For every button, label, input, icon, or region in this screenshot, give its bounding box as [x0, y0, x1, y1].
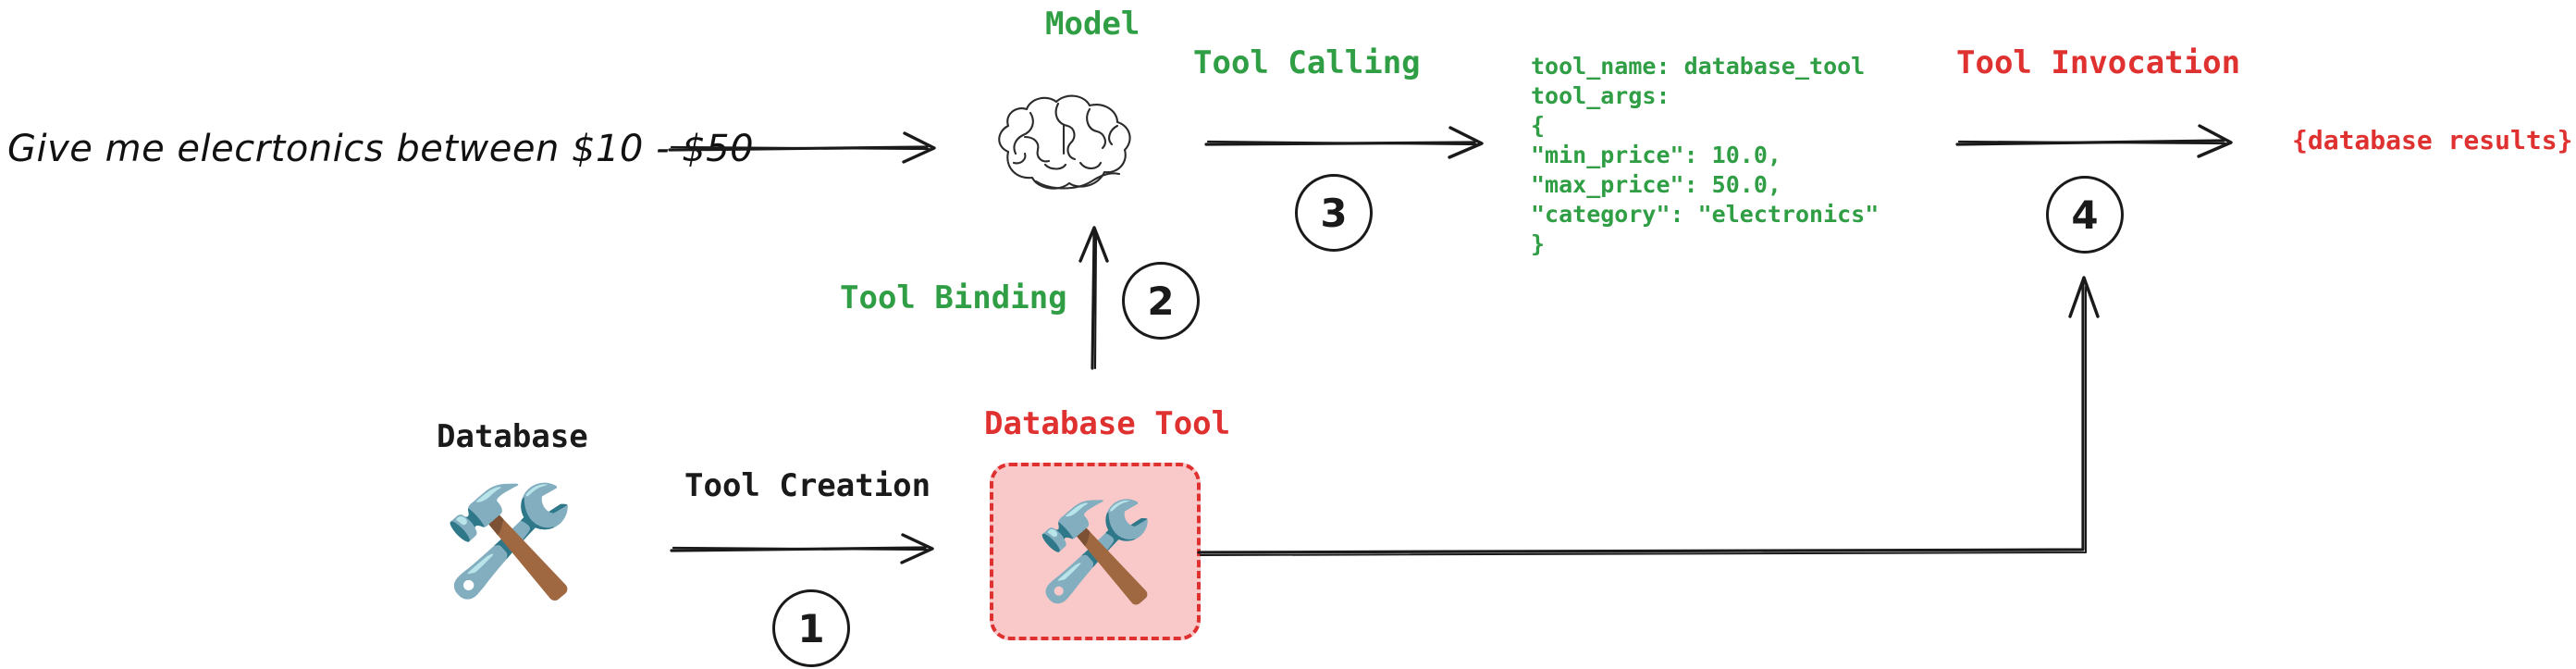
step-circle-2: 2 [1122, 262, 1200, 340]
diagram-canvas: Give me elecrtonics between $10 - $50 Mo… [0, 0, 2576, 669]
database-label: Database [437, 418, 588, 455]
step-circle-3: 3 [1295, 174, 1373, 252]
step-circle-1: 1 [772, 589, 850, 667]
database-results-label: {database results} [2292, 125, 2572, 155]
model-label: Model [1045, 6, 1140, 43]
user-query-text: Give me elecrtonics between $10 - $50 [7, 128, 754, 170]
arrow-query-to-model [666, 120, 953, 176]
brain-icon [980, 85, 1147, 205]
database-tools-icon: 🛠️ [442, 489, 575, 596]
tool-creation-label: Tool Creation [684, 467, 931, 504]
tool-calling-label: Tool Calling [1193, 44, 1421, 81]
arrow-tool-to-invocation [1193, 259, 2146, 574]
tool-binding-label: Tool Binding [840, 279, 1067, 316]
database-tool-icon: 🛠️ [1035, 503, 1155, 600]
arrow-tool-binding [1064, 222, 1128, 375]
arrow-toolcall-to-results [1954, 118, 2249, 174]
tool-invocation-label: Tool Invocation [1956, 44, 2240, 81]
arrow-database-to-tool [668, 523, 955, 578]
database-tool-box[interactable]: 🛠️ [990, 463, 1201, 640]
tool-call-payload: tool_name: database_tool tool_args: { "m… [1531, 52, 1879, 259]
step-circle-4: 4 [2046, 176, 2124, 254]
arrow-model-to-toolcall [1202, 120, 1498, 176]
